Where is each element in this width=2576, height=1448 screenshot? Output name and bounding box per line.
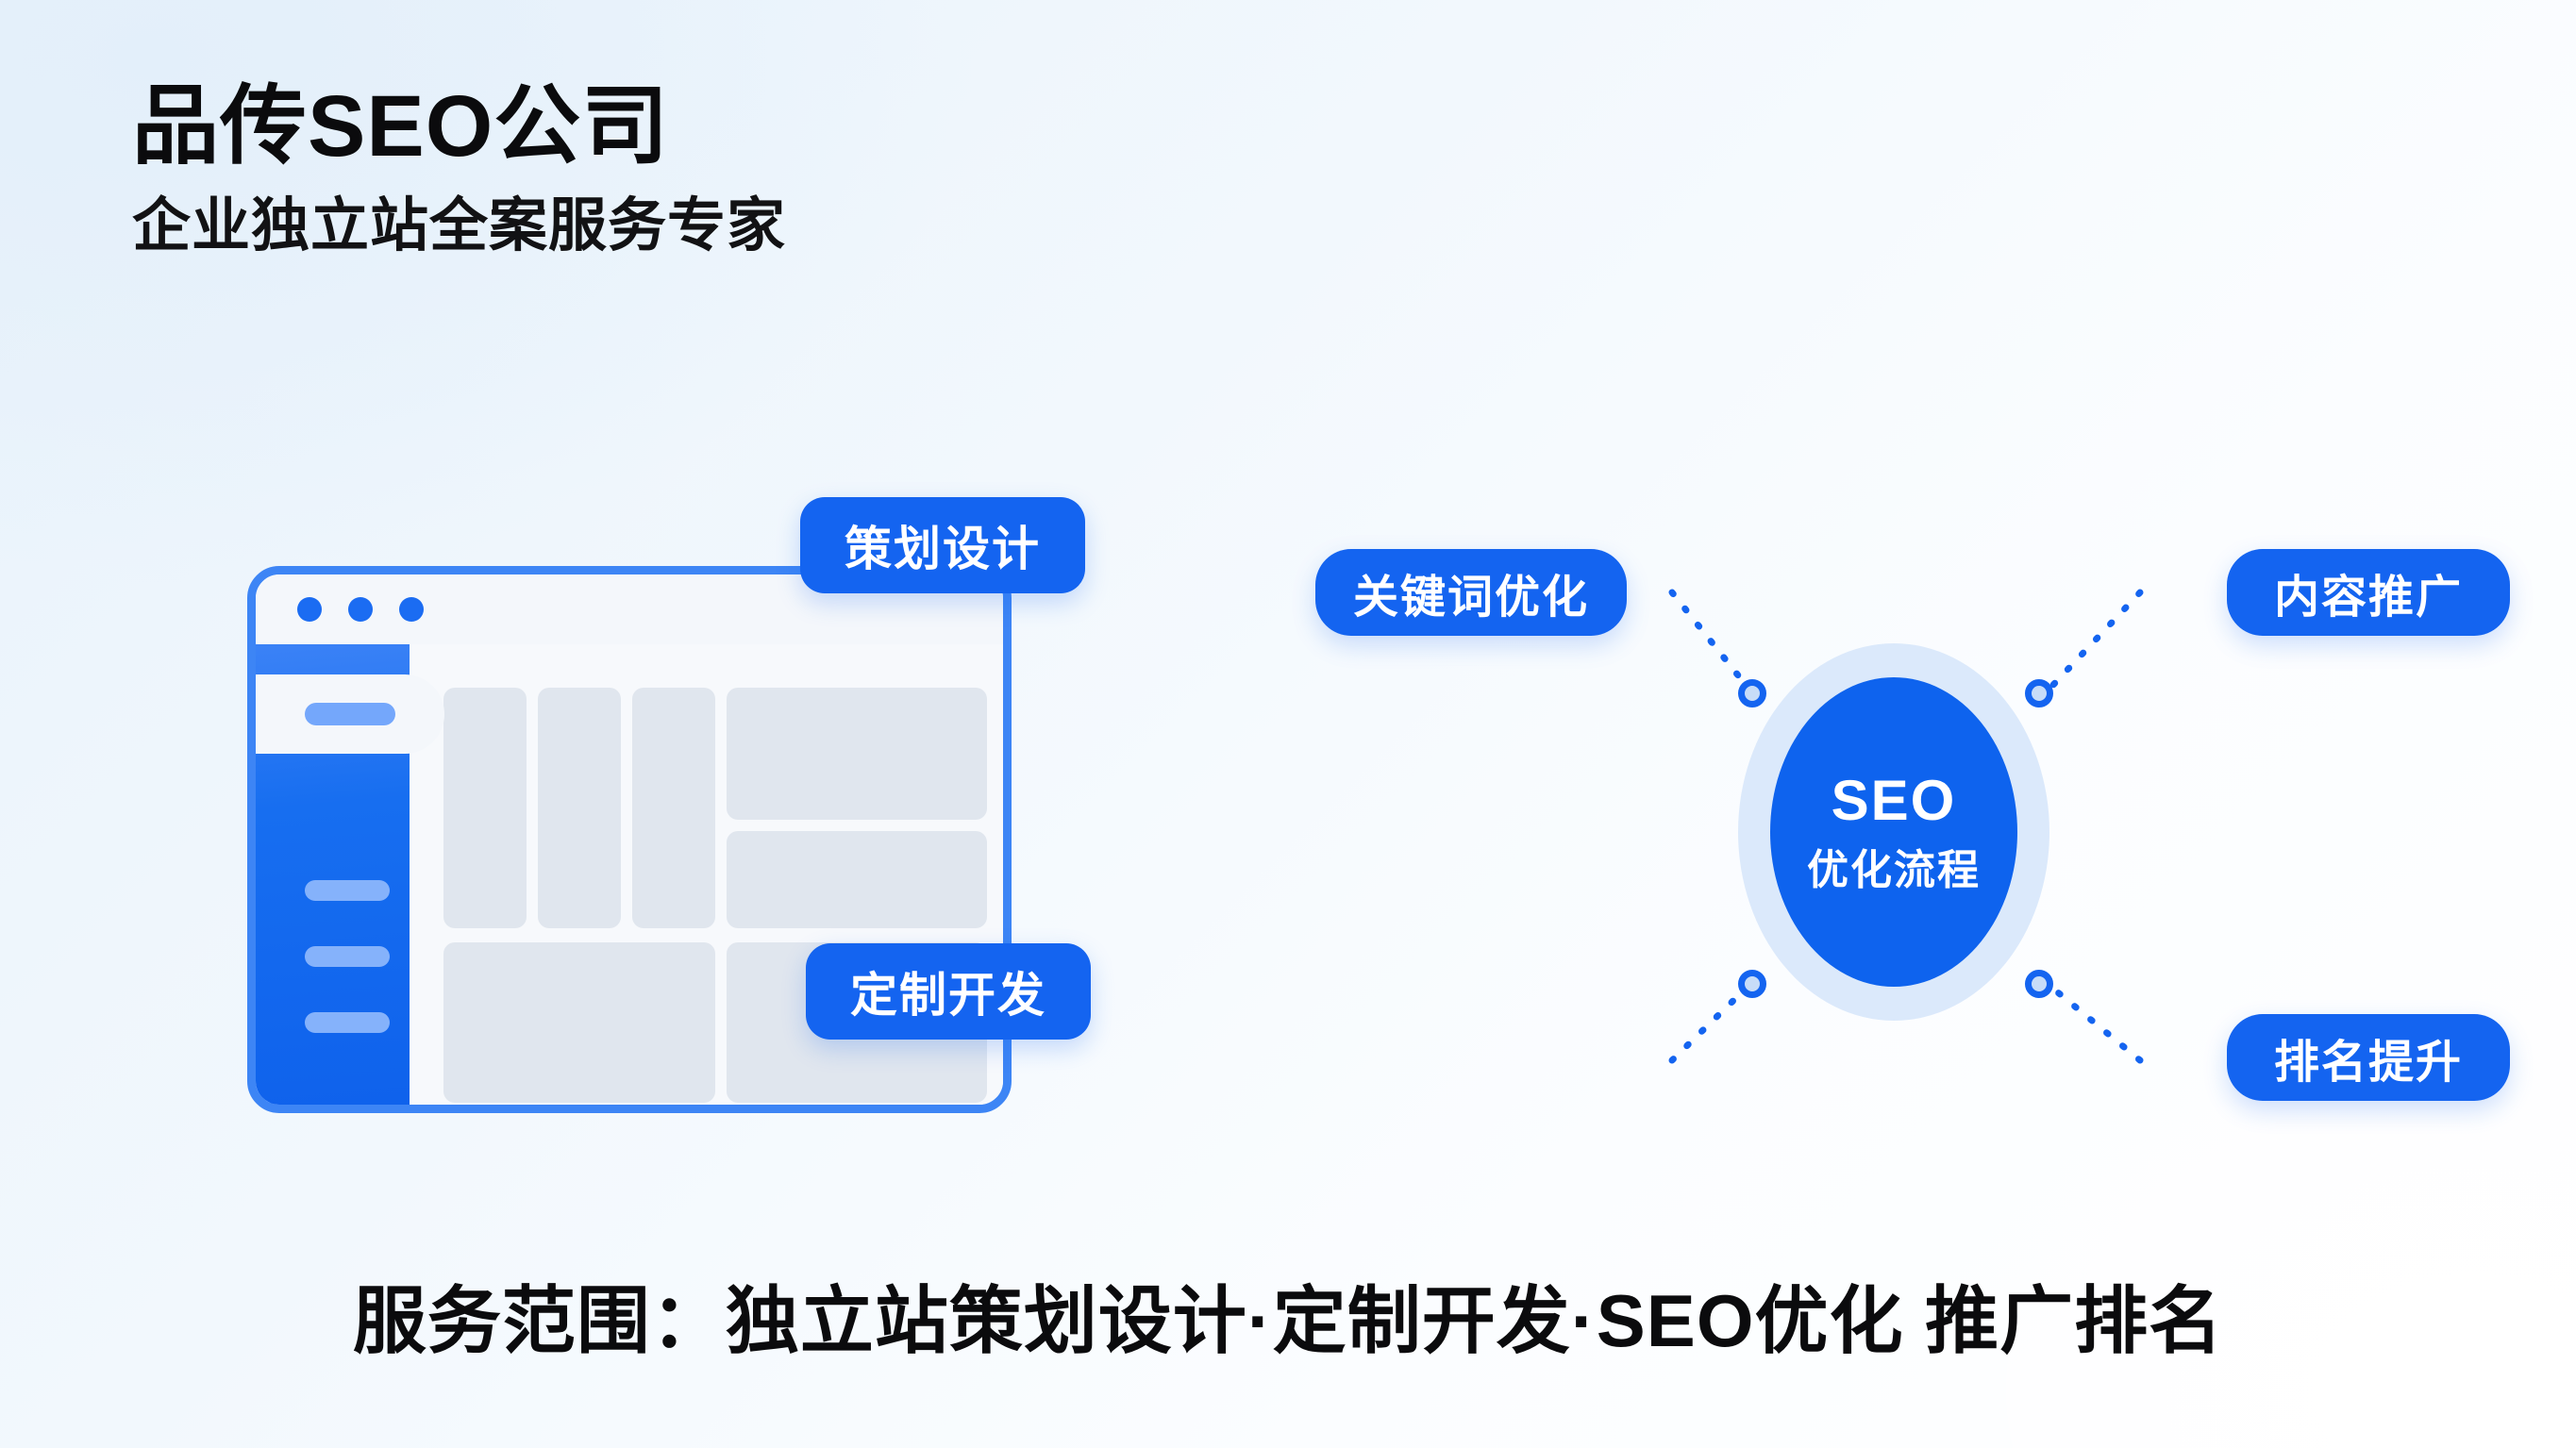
badge-ranking-improvement: 排名提升 [2227,1014,2510,1101]
window-dot-icon [297,597,322,622]
badge-custom-development: 定制开发 [806,943,1091,1040]
sidebar-nav-item-active-bar [305,703,395,725]
connector-line-bottom-right [2053,989,2140,1060]
content-block [443,942,715,1103]
content-block [632,688,715,928]
connector-node-icon-top-left [1738,679,1766,707]
sidebar-nav-item [305,880,390,901]
content-block [443,688,527,928]
connector-node-icon-bottom-left [1738,970,1766,998]
badge-planning-design: 策划设计 [800,497,1085,593]
seo-center-subtitle: 优化流程 [1807,850,1981,891]
content-block [727,688,987,820]
window-dot-icon [399,597,424,622]
page-subtitle: 企业独立站全案服务专家 [132,194,786,258]
connector-node-icon-bottom-right [2025,970,2053,998]
sidebar-nav-item [305,946,390,967]
page-title: 品传SEO公司 [132,81,786,174]
seo-center-title: SEO [1832,773,1957,829]
content-block [538,688,621,928]
connector-line-top-right [2053,592,2140,685]
content-block [727,831,987,928]
badge-content-promotion: 内容推广 [2227,549,2510,636]
service-scope-text: 服务范围：独立站策划设计·定制开发·SEO优化 推广排名 [0,1262,2576,1368]
browser-illustration: 策划设计 定制开发 [247,566,1040,1132]
seo-center-circle: SEO 优化流程 [1770,677,2017,987]
connector-line-bottom-left [1672,989,1746,1060]
connector-line-top-left [1672,592,1746,685]
connector-node-icon-top-right [2025,679,2053,707]
window-dot-icon [348,597,373,622]
badge-keyword-optimization: 关键词优化 [1315,549,1627,636]
seo-process-diagram: SEO 优化流程 关键词优化 内容推广 排名提升 [1274,500,2538,1151]
sidebar-nav-item-active [256,674,444,754]
poster-canvas: 品传SEO公司 企业独立站全案服务专家 [0,0,2576,1448]
sidebar-nav-item [305,1012,390,1033]
header: 品传SEO公司 企业独立站全案服务专家 [132,81,786,258]
